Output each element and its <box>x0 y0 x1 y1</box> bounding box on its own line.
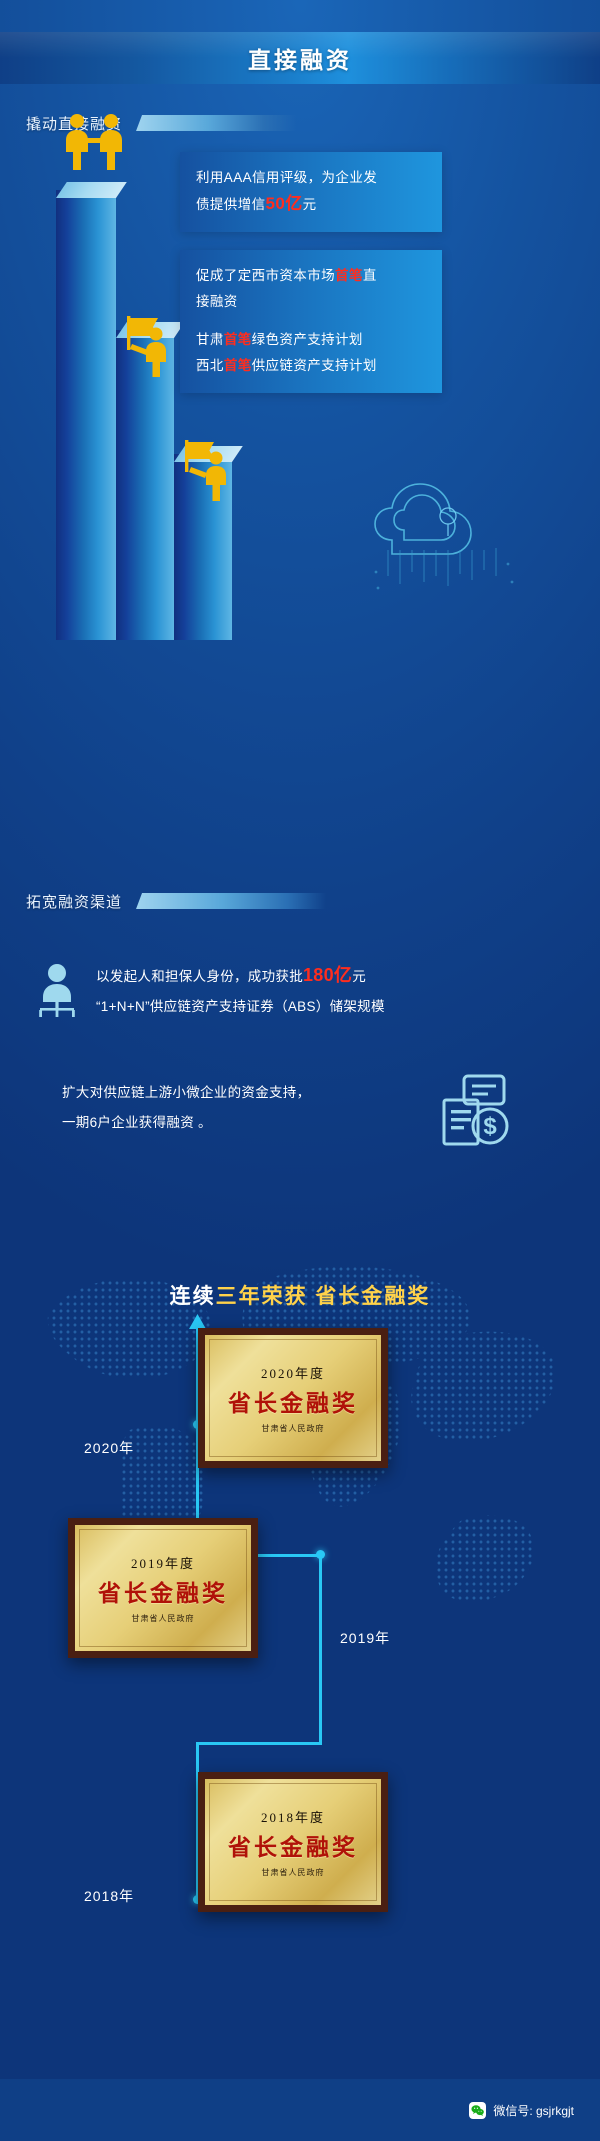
plaque-issuer: 甘肃省人民政府 <box>132 1613 195 1624</box>
svg-text:$: $ <box>483 1113 497 1140</box>
card-line-2: 债提供增信50亿元 <box>196 191 428 218</box>
highlight-amount: 50亿 <box>266 194 303 213</box>
channel-text: 元 <box>352 969 366 984</box>
plaque-year-suffix: 年度 <box>295 1810 325 1825</box>
channel-item-abs: 以发起人和担保人身份，成功获批180亿元 “1+N+N”供应链资产支持证券（AB… <box>34 960 574 1022</box>
plaque-award-name: 省长金融奖 <box>228 1828 358 1862</box>
channel-item-smes: 扩大对供应链上游小微企业的资金支持， 一期6户企业获得融资 。 $ <box>34 1078 574 1138</box>
section-ribbon-icon <box>136 893 326 909</box>
plaque-award-name: 省长金融奖 <box>98 1574 228 1608</box>
highlight-first: 首笔 <box>224 332 252 347</box>
footer-bar: 微信号: gsjrkgjt <box>0 2079 600 2141</box>
card-text: 元 <box>303 197 317 212</box>
infographic-page: 直接融资 撬动直接融资 <box>0 0 600 2141</box>
plaque-issuer: 甘肃省人民政府 <box>262 1867 325 1878</box>
card-text: 绿色资产支持计划 <box>252 332 363 347</box>
year-label-2018: 2018年 <box>84 1886 134 1906</box>
figure-climbing-icon <box>176 440 246 502</box>
timeline-segment-2019 <box>319 1554 322 1744</box>
card-text: 促成了定西市资本市场 <box>196 268 335 283</box>
plaque-year-suffix: 年度 <box>165 1556 195 1571</box>
awards-title-part: 连续 <box>170 1285 216 1308</box>
plaque-inner: 2020年度 省长金融奖 甘肃省人民政府 <box>209 1339 377 1457</box>
plaque-frame: 2018年度 省长金融奖 甘肃省人民政府 <box>198 1772 388 1912</box>
bar-stage-1 <box>56 190 116 640</box>
invoice-dollar-icon: $ <box>436 1072 512 1153</box>
channel-text-block: 以发起人和担保人身份，成功获批180亿元 “1+N+N”供应链资产支持证券（AB… <box>96 960 574 1022</box>
timeline-segment-h2 <box>196 1742 322 1745</box>
text-card-credit-rating: 利用AAA信用评级，为企业发 债提供增信50亿元 <box>180 152 442 232</box>
world-map-decoration <box>10 1190 590 1750</box>
plaque-frame: 2019年度 省长金融奖 甘肃省人民政府 <box>68 1518 258 1658</box>
bar-top <box>56 182 127 198</box>
plaque-year-number: 2020 <box>261 1366 295 1381</box>
awards-title: 连续三年荣获 省长金融奖 <box>0 1280 600 1310</box>
award-plaque-2019: 2019年度 省长金融奖 甘肃省人民政府 <box>68 1518 258 1658</box>
awards-section: 连续三年荣获 省长金融奖 2020年 2020年度 省长金融奖 <box>0 1180 600 2070</box>
card-text: 供应链资产支持计划 <box>252 358 377 373</box>
section-ribbon-icon <box>136 115 296 131</box>
plaque-issuer: 甘肃省人民政府 <box>262 1423 325 1434</box>
wechat-account[interactable]: 微信号: gsjrkgjt <box>469 2102 574 2119</box>
card-text: 甘肃 <box>196 332 224 347</box>
awards-title-award-name: 省长金融奖 <box>315 1285 430 1308</box>
plaque-award-name: 省长金融奖 <box>228 1384 358 1418</box>
plaque-year-number: 2018 <box>261 1810 295 1825</box>
bar-face <box>56 190 116 640</box>
year-label-2019: 2019年 <box>340 1628 390 1648</box>
award-plaque-2020: 2020年度 省长金融奖 甘肃省人民政府 <box>198 1328 388 1468</box>
card-text: 直 <box>363 268 377 283</box>
timeline-dot-2019 <box>316 1550 325 1559</box>
plaque-year: 2018年度 <box>261 1807 325 1826</box>
card-line-1: 促成了定西市资本市场首笔直 <box>196 263 428 289</box>
header-banner: 直接融资 <box>0 32 600 84</box>
page-title: 直接融资 <box>0 32 600 84</box>
plaque-inner: 2018年度 省长金融奖 甘肃省人民政府 <box>209 1783 377 1901</box>
plaque-year: 2019年度 <box>131 1553 195 1572</box>
wechat-label: 微信号: gsjrkgjt <box>493 2102 574 2119</box>
highlight-amount: 180亿 <box>303 965 352 985</box>
card-text: 西北 <box>196 358 224 373</box>
cloud-lock-icon <box>352 452 542 612</box>
card-line-3: 甘肃首笔绿色资产支持计划 <box>196 327 428 353</box>
plaque-year-suffix: 年度 <box>295 1366 325 1381</box>
plaque-year-number: 2019 <box>131 1556 165 1571</box>
card-text: 利用AAA信用评级，为企业发 <box>196 170 377 185</box>
awards-title-highlight: 三年荣获 <box>216 1285 308 1308</box>
year-label-2020: 2020年 <box>84 1438 134 1458</box>
plaque-year: 2020年度 <box>261 1363 325 1382</box>
text-card-first-issuances: 促成了定西市资本市场首笔直 接融资 甘肃首笔绿色资产支持计划 西北首笔供应链资产… <box>180 250 442 393</box>
highlight-first: 首笔 <box>335 268 363 283</box>
channel-text: 以发起人和担保人身份，成功获批 <box>96 969 303 984</box>
award-plaque-2018: 2018年度 省长金融奖 甘肃省人民政府 <box>198 1772 388 1912</box>
card-line-4: 西北首笔供应链资产支持计划 <box>196 353 428 379</box>
plaque-inner: 2019年度 省长金融奖 甘肃省人民政府 <box>79 1529 247 1647</box>
wechat-icon <box>469 2102 486 2119</box>
card-line-1: 利用AAA信用评级，为企业发 <box>196 165 428 191</box>
channel-line-2: “1+N+N”供应链资产支持证券（ABS）储架规模 <box>96 992 574 1022</box>
card-text: 债提供增信 <box>196 197 266 212</box>
figure-handshake-icon <box>58 112 132 170</box>
staircase-bar-chart <box>22 160 252 640</box>
channel-line-1: 以发起人和担保人身份，成功获批180亿元 <box>96 960 574 992</box>
card-line-2: 接融资 <box>196 289 428 315</box>
person-network-icon <box>34 962 80 1025</box>
figure-with-flag-icon <box>118 314 188 378</box>
section-label: 拓宽融资渠道 <box>26 891 122 912</box>
highlight-first: 首笔 <box>224 358 252 373</box>
card-spacer <box>196 315 428 327</box>
plaque-frame: 2020年度 省长金融奖 甘肃省人民政府 <box>198 1328 388 1468</box>
section-header-channels: 拓宽融资渠道 <box>26 888 326 914</box>
